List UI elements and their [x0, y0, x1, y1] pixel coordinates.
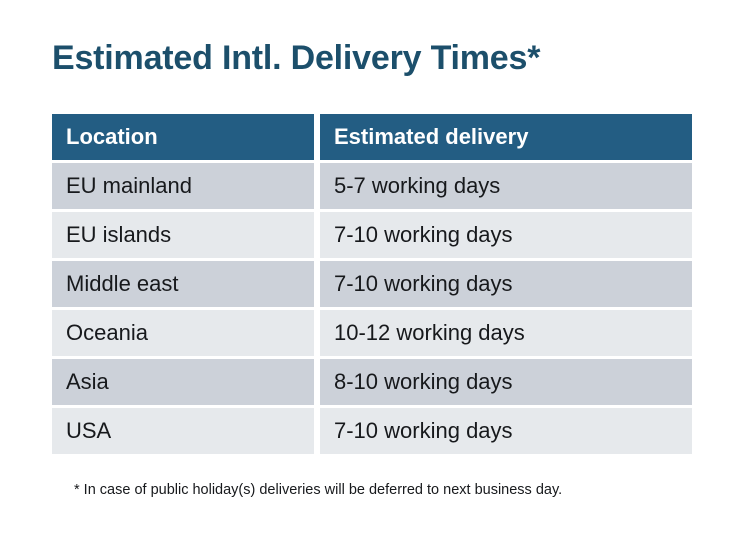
cell-location: Asia [52, 359, 314, 405]
table-row: Oceania 10-12 working days [52, 310, 692, 356]
page-title: Estimated Intl. Delivery Times* [52, 36, 540, 80]
table-header-row: Location Estimated delivery [52, 114, 692, 160]
table-row: Asia 8-10 working days [52, 359, 692, 405]
cell-delivery: 10-12 working days [320, 310, 692, 356]
cell-delivery: 5-7 working days [320, 163, 692, 209]
cell-delivery: 7-10 working days [320, 408, 692, 454]
table-row: EU islands 7-10 working days [52, 212, 692, 258]
footnote-text: * In case of public holiday(s) deliverie… [74, 480, 562, 500]
column-header-estimated-delivery: Estimated delivery [320, 114, 692, 160]
delivery-times-page: Estimated Intl. Delivery Times* Location… [0, 0, 745, 536]
column-header-location: Location [52, 114, 314, 160]
cell-delivery: 7-10 working days [320, 212, 692, 258]
table-row: USA 7-10 working days [52, 408, 692, 454]
cell-location: Oceania [52, 310, 314, 356]
cell-location: USA [52, 408, 314, 454]
table-row: EU mainland 5-7 working days [52, 163, 692, 209]
cell-location: Middle east [52, 261, 314, 307]
cell-delivery: 8-10 working days [320, 359, 692, 405]
delivery-times-table: Location Estimated delivery EU mainland … [52, 114, 692, 454]
cell-delivery: 7-10 working days [320, 261, 692, 307]
cell-location: EU mainland [52, 163, 314, 209]
table-row: Middle east 7-10 working days [52, 261, 692, 307]
cell-location: EU islands [52, 212, 314, 258]
